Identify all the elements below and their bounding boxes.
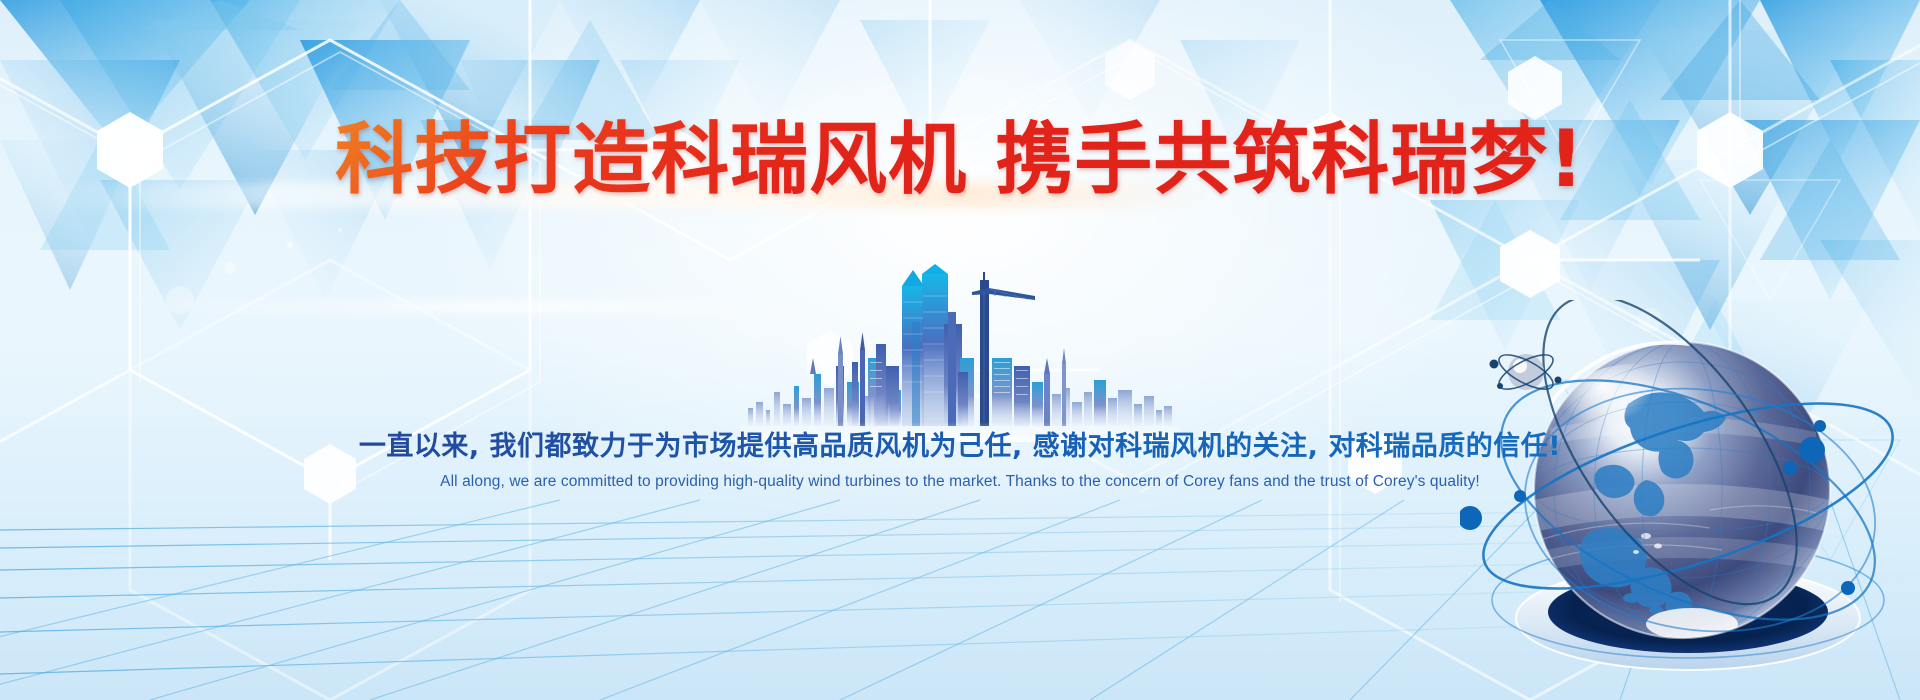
- glass-globe-graphic: [1460, 300, 1920, 700]
- light-flare-streak: [30, 182, 1210, 208]
- city-skyline-graphic: [740, 262, 1180, 442]
- skyline-buildings: [748, 264, 1172, 426]
- banner-root: 科技打造科瑞风机 携手共筑科瑞梦! 一直以来, 我们都致力于为市场提供高品质风机…: [0, 0, 1920, 700]
- satellite-atom: [1490, 348, 1562, 396]
- subtitle-chinese: 一直以来, 我们都致力于为市场提供高品质风机为己任, 感谢对科瑞风机的关注, 对…: [0, 424, 1920, 463]
- subtitle-english: All along, we are committed to providing…: [0, 473, 1920, 491]
